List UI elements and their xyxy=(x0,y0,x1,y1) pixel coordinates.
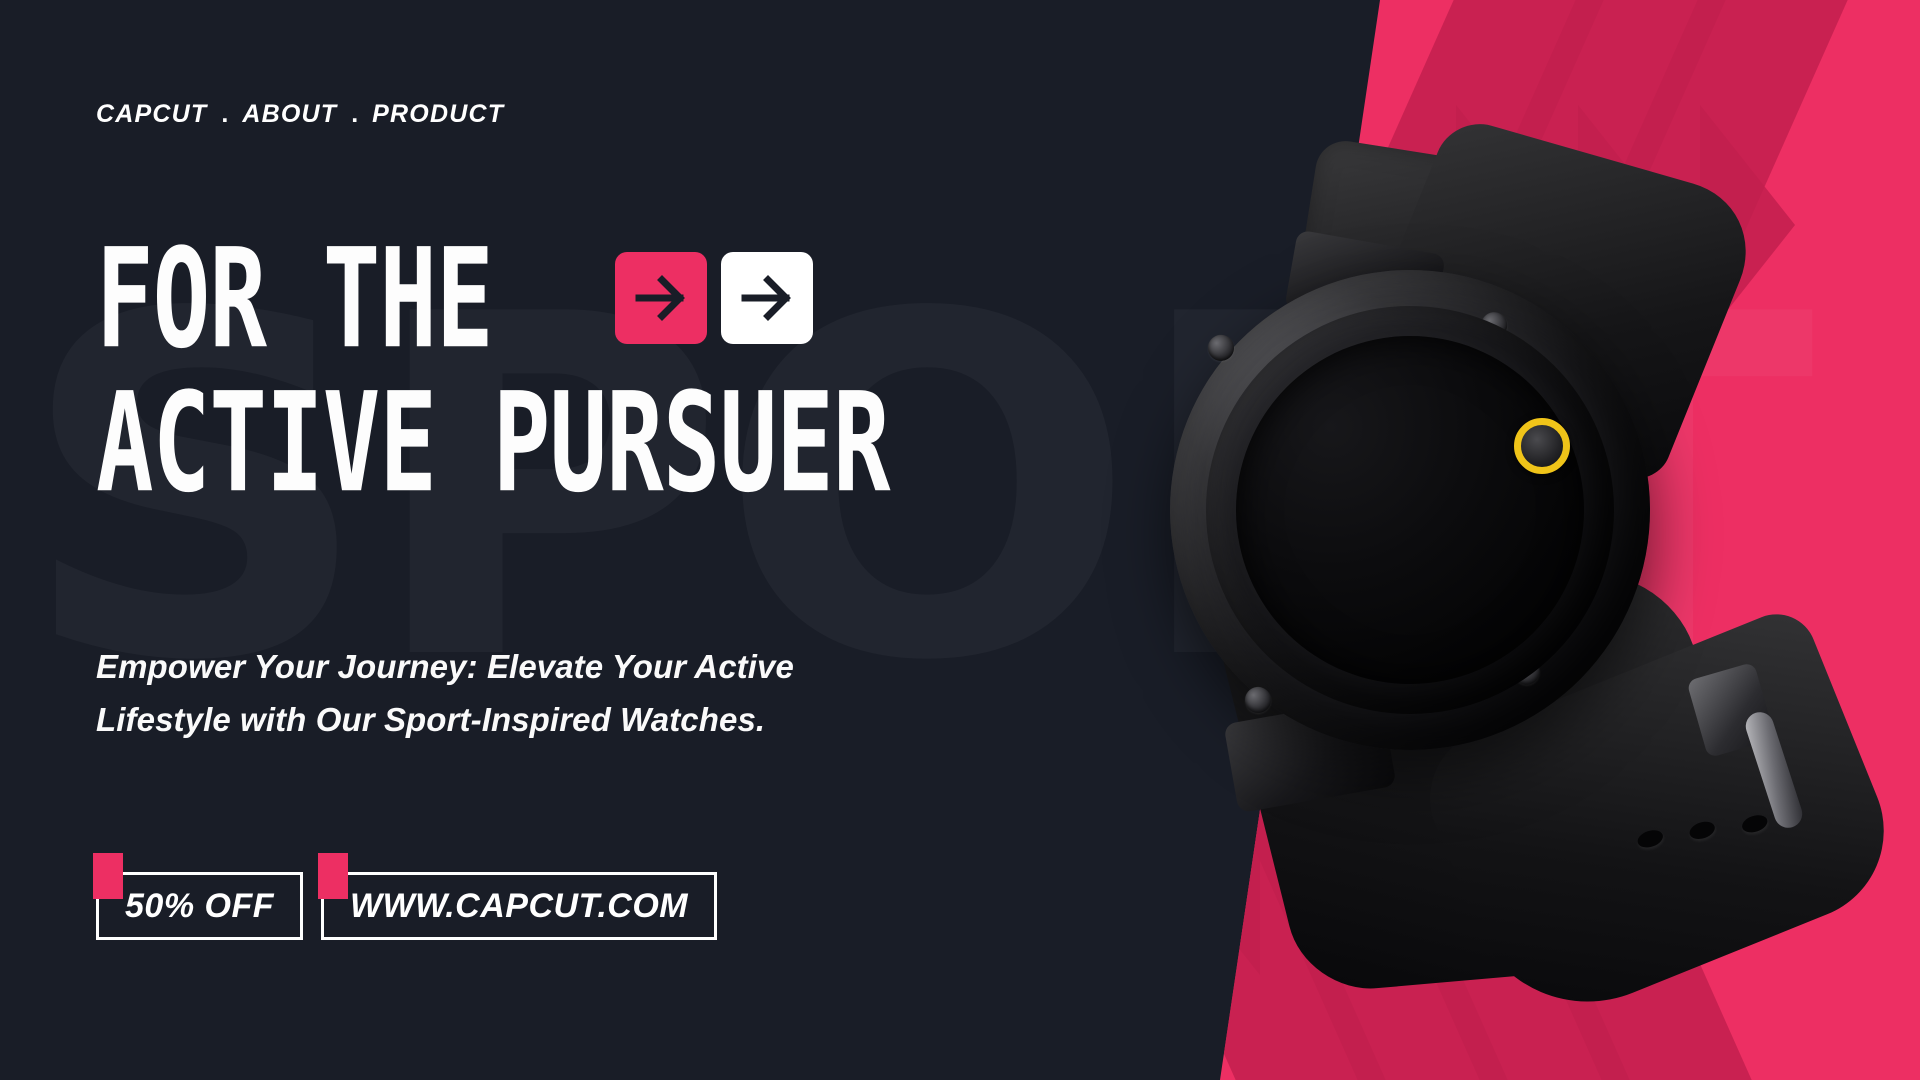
arrow-right-pink-button[interactable] xyxy=(615,252,707,344)
arrow-right-white-button[interactable] xyxy=(721,252,813,344)
headline-line-2: ACTIVE PURSUER xyxy=(96,378,924,510)
paragraph-line-1: Empower Your Journey: Elevate Your Activ… xyxy=(96,640,856,693)
promo-banner: SPORT CAPCUT . xyxy=(0,0,1920,1080)
watch-crown-button xyxy=(1514,418,1570,474)
arrow-right-icon xyxy=(635,272,687,324)
nav-item-about[interactable]: ABOUT xyxy=(242,100,337,129)
discount-badge[interactable]: 50% OFF xyxy=(96,872,303,940)
badge-group: 50% OFF WWW.CAPCUT.COM xyxy=(96,872,717,940)
hero-paragraph: Empower Your Journey: Elevate Your Activ… xyxy=(96,640,856,747)
badge-corner-accent xyxy=(93,853,123,899)
arrow-right-icon xyxy=(741,272,793,324)
nav-separator: . xyxy=(207,100,242,129)
watch-bezel xyxy=(1186,286,1634,734)
headline-line-1: FOR THE xyxy=(96,234,493,366)
discount-badge-label: 50% OFF xyxy=(125,887,274,926)
paragraph-line-2: Lifestyle with Our Sport-Inspired Watche… xyxy=(96,693,856,746)
nav-item-capcut[interactable]: CAPCUT xyxy=(96,100,207,129)
strap-hole xyxy=(1740,812,1770,835)
website-badge-label: WWW.CAPCUT.COM xyxy=(350,887,688,926)
strap-hole xyxy=(1635,827,1665,850)
case-screw xyxy=(1207,334,1236,363)
top-navigation: CAPCUT . ABOUT . PRODUCT xyxy=(96,100,504,129)
arrow-button-group xyxy=(615,252,813,344)
nav-item-product[interactable]: PRODUCT xyxy=(372,100,504,129)
badge-corner-accent xyxy=(318,853,348,899)
product-image-smartwatch xyxy=(1060,150,1920,970)
strap-hole xyxy=(1687,819,1717,842)
nav-separator: . xyxy=(337,100,372,129)
watch-dial-screen xyxy=(1219,319,1601,701)
hero-headline-block: FOR THE ACT xyxy=(96,250,996,494)
website-badge[interactable]: WWW.CAPCUT.COM xyxy=(321,872,717,940)
headline-row-one: FOR THE xyxy=(96,250,996,350)
content-column: CAPCUT . ABOUT . PRODUCT FOR THE xyxy=(0,0,1010,1080)
